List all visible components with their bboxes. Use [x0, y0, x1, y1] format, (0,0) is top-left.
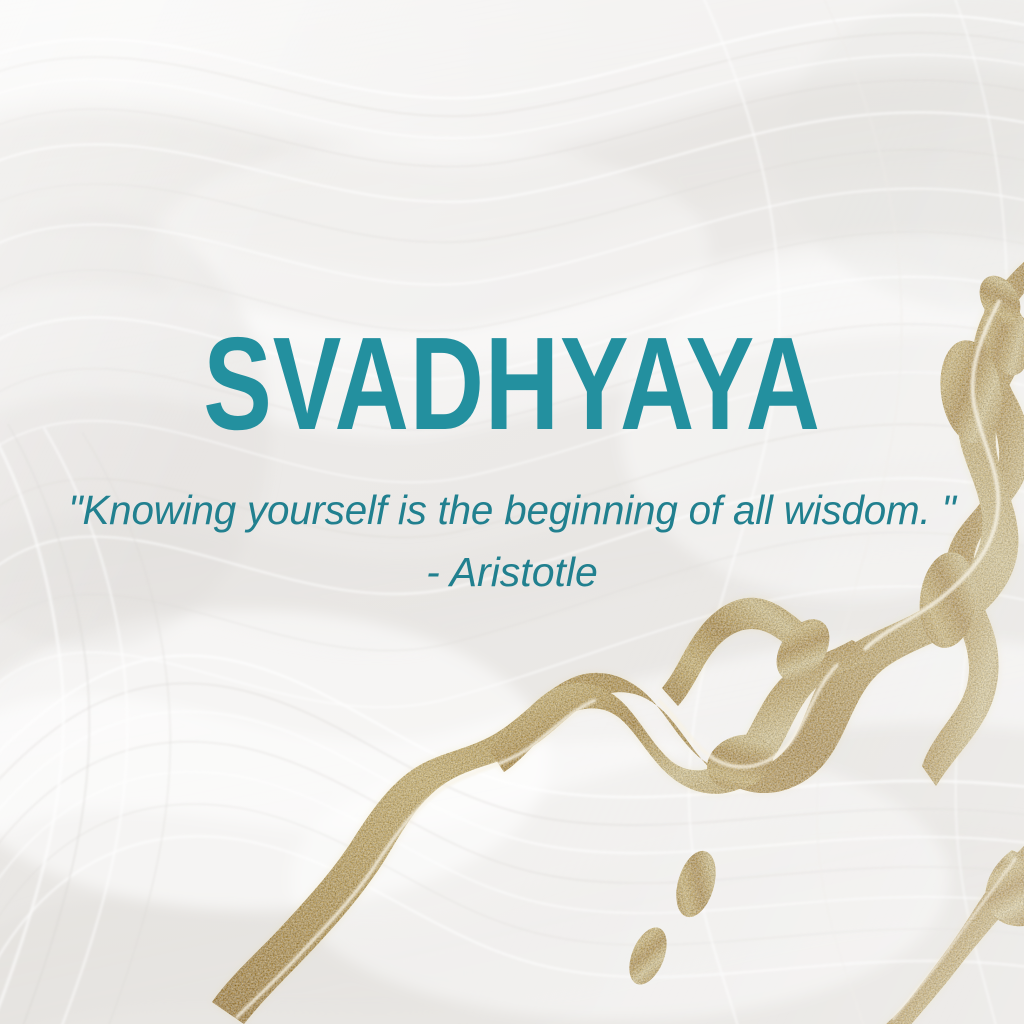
quote-card: SVADHYAYA "Knowing yourself is the begin… [0, 0, 1024, 1024]
card-content: SVADHYAYA "Knowing yourself is the begin… [0, 0, 1024, 1024]
page-title: SVADHYAYA [113, 318, 912, 450]
quote-attribution: - Aristotle [0, 551, 1024, 594]
quote-text: "Knowing yourself is the beginning of al… [8, 489, 1017, 532]
